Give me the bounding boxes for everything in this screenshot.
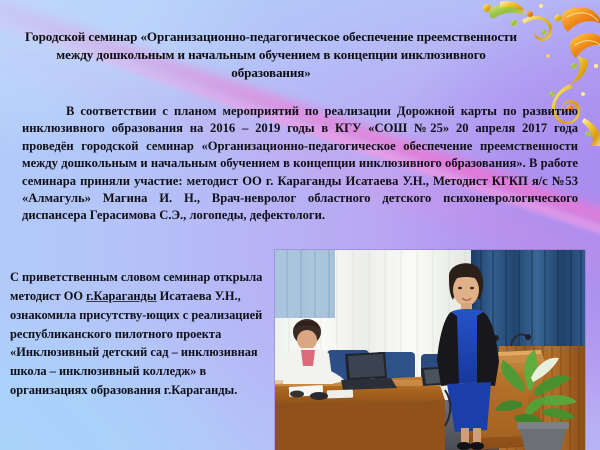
slide-title: Городской семинар «Организационно-педаго…: [16, 28, 526, 81]
presentation-slide: Городской семинар «Организационно-педаго…: [0, 0, 600, 450]
seminar-presentation-photo: [275, 250, 585, 450]
main-paragraph: В соответствии с планом мероприятий по р…: [22, 103, 578, 225]
second-paragraph-underlined-city: г.Караганды: [86, 289, 156, 303]
second-paragraph-part2: Исатаева У.Н., ознакомила присутству-ющи…: [10, 289, 262, 397]
second-paragraph: С приветственным словом семинар открыла …: [10, 268, 268, 400]
